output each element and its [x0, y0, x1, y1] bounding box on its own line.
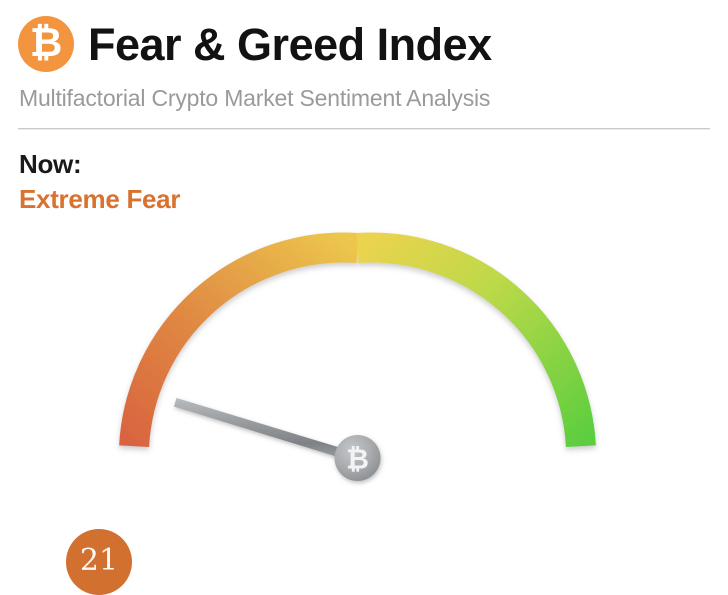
brand-row: ₿ Fear & Greed Index — [18, 16, 492, 72]
page-title: Fear & Greed Index — [88, 22, 492, 67]
gauge-arc-right — [358, 248, 581, 447]
fear-greed-gauge: ₿ 21 — [0, 215, 728, 575]
status-value-label: Extreme Fear — [19, 183, 180, 216]
gauge-arc-left — [134, 248, 357, 447]
status-now-label: Now: — [19, 148, 180, 181]
bitcoin-glyph: ₿ — [18, 15, 74, 71]
gauge-needle-pointer — [174, 398, 358, 463]
gauge-value-badge: 21 — [66, 529, 132, 595]
gauge-hub: ₿ — [335, 435, 381, 481]
gauge-needle — [174, 398, 358, 463]
status-block: Now: Extreme Fear — [19, 148, 180, 215]
gauge-svg: ₿ — [0, 215, 728, 575]
page-subtitle: Multifactorial Crypto Market Sentiment A… — [19, 85, 490, 112]
gauge-arc — [134, 248, 581, 447]
bitcoin-icon: ₿ — [18, 16, 74, 72]
gauge-value-text: 21 — [80, 546, 118, 576]
bitcoin-icon: ₿ — [346, 443, 369, 476]
header-divider — [18, 128, 710, 130]
